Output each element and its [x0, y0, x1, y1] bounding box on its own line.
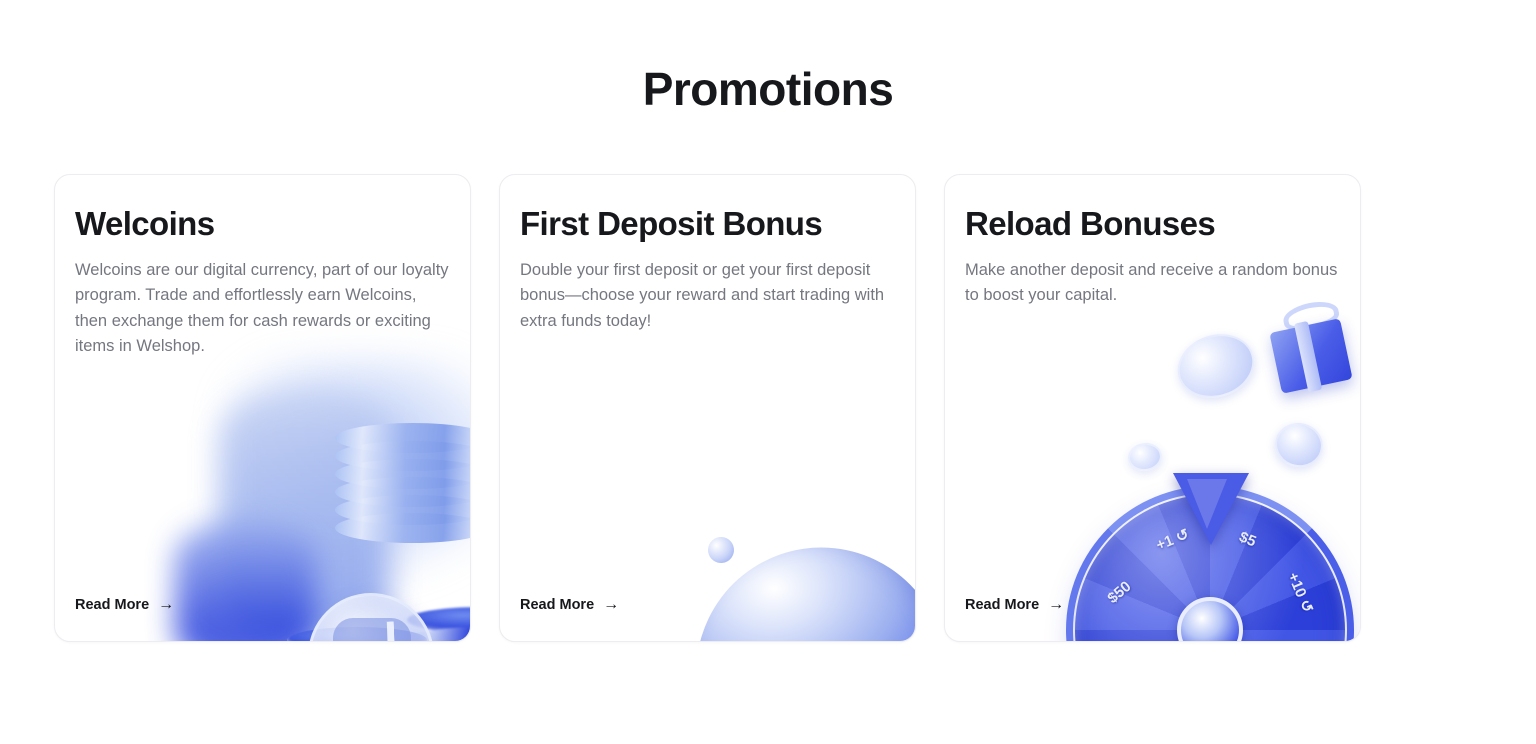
floating-coin-top — [1169, 324, 1262, 407]
card-description: Welcoins are our digital currency, part … — [75, 258, 450, 360]
coin-stack-right — [407, 607, 471, 642]
promotions-card-list: Welcoins Welcoins are our digital curren… — [54, 174, 1362, 642]
wheel-hub — [1177, 597, 1243, 642]
arrow-right-icon: → — [603, 597, 619, 613]
side-coin-stack — [335, 423, 471, 558]
wheel-disc — [1075, 495, 1345, 642]
prize-wheel: $5 +10 ↺ $10 $1000 $20 +5 ↺ — [1075, 495, 1345, 642]
floating-coin-small — [1126, 441, 1164, 473]
wheel-pointer-icon — [1173, 473, 1249, 545]
wheel-outer-ring — [1066, 486, 1354, 642]
card-title: Welcoins — [75, 205, 448, 244]
floating-coin-right — [1271, 418, 1327, 471]
read-more-link-welcoins[interactable]: Read More → — [75, 597, 174, 613]
blurred-coin-stack-back — [220, 390, 390, 640]
promo-card-reload-bonuses[interactable]: $5 +10 ↺ $10 $1000 $20 +5 ↺ — [944, 174, 1361, 642]
promo-card-welcoins[interactable]: Welcoins Welcoins are our digital curren… — [54, 174, 471, 642]
cloche-dome — [680, 531, 916, 642]
wheel-pointer-highlight — [1187, 479, 1227, 529]
gift-box-icon — [1269, 318, 1352, 394]
welcoins-artwork — [55, 175, 470, 641]
read-more-link-reload-bonuses[interactable]: Read More → — [965, 597, 1064, 613]
read-more-label: Read More — [965, 597, 1039, 613]
read-more-label: Read More — [75, 597, 149, 613]
arrow-right-icon: → — [1048, 597, 1064, 613]
blurred-coin-stack-left — [175, 520, 315, 642]
card-description: Double your first deposit or get your fi… — [520, 258, 895, 335]
cloche-knob — [706, 535, 735, 564]
page-title: Promotions — [0, 62, 1536, 116]
card-description: Make another deposit and receive a rando… — [965, 258, 1340, 309]
wheel-sheen — [1075, 495, 1345, 642]
coin-stack-center — [287, 627, 427, 642]
arrow-right-icon: → — [158, 597, 174, 613]
welcoin-logo-coin — [308, 593, 434, 642]
coin-glow — [225, 355, 471, 585]
card-title: Reload Bonuses — [965, 205, 1338, 244]
first-deposit-artwork: 2x — [500, 175, 915, 641]
promotions-page: Promotions — [0, 0, 1536, 744]
card-title: First Deposit Bonus — [520, 205, 893, 244]
reload-bonuses-artwork: $5 +10 ↺ $10 $1000 $20 +5 ↺ — [945, 175, 1360, 641]
promo-card-first-deposit-bonus[interactable]: 2x First Deposit Bonus Double your first… — [499, 174, 916, 642]
read-more-link-first-deposit[interactable]: Read More → — [520, 597, 619, 613]
read-more-label: Read More — [520, 597, 594, 613]
